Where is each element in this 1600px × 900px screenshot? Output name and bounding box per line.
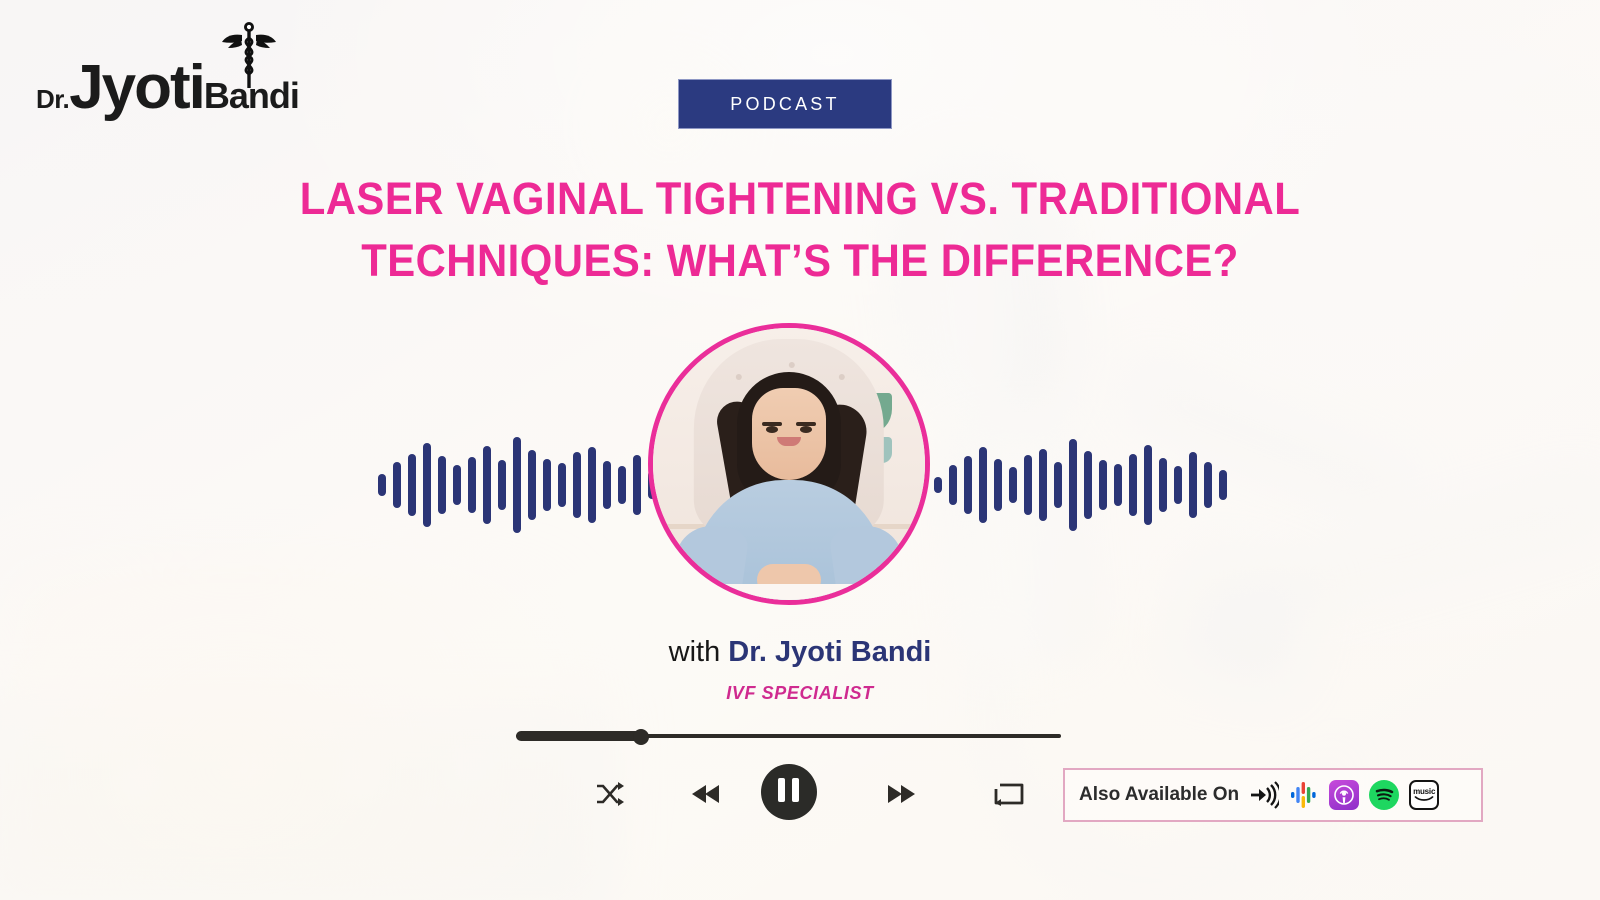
repeat-button[interactable] [987, 765, 1031, 823]
avatar-face [752, 388, 826, 480]
waveform-bar [1159, 458, 1167, 512]
waveform-bar [1054, 462, 1062, 508]
waveform-bar [1069, 439, 1077, 531]
waveform-bar [979, 447, 987, 523]
waveform-bar [453, 465, 461, 505]
waveform-bar [1084, 451, 1092, 519]
waveform-right [934, 430, 1227, 540]
amazon-music-label: music [1413, 788, 1435, 796]
shuffle-icon [595, 781, 625, 807]
progress-knob[interactable] [633, 729, 649, 745]
pause-icon [778, 778, 799, 807]
episode-title-line-2: TECHNIQUES: WHAT’S THE DIFFERENCE? [56, 230, 1544, 292]
waveform-bar [1024, 455, 1032, 515]
waveform-left [378, 430, 671, 540]
apple-podcasts-glyph [1334, 785, 1354, 805]
waveform-bar [408, 454, 416, 516]
podcast-badge-label: PODCAST [730, 94, 839, 115]
waveform-bar [588, 447, 596, 523]
avatar [648, 323, 930, 605]
also-available-on: Also Available On [1063, 768, 1483, 822]
waveform-bar [1219, 470, 1227, 500]
waveform-bar [513, 437, 521, 533]
amazon-smile-icon [1414, 796, 1434, 802]
rewind-icon [691, 783, 721, 805]
spotify-glyph [1373, 784, 1395, 806]
host-credit: with Dr. Jyoti Bandi [0, 636, 1600, 669]
waveform-bar [1174, 466, 1182, 504]
progress-bar[interactable] [516, 729, 1061, 743]
avatar-desk [653, 584, 925, 600]
waveform-bar [378, 474, 386, 496]
pause-button[interactable] [761, 764, 817, 820]
amazon-music-icon[interactable]: music [1409, 780, 1439, 810]
host-role: IVF SPECIALIST [0, 683, 1600, 704]
waveform-bar [498, 460, 506, 510]
waveform-bar [468, 457, 476, 513]
also-available-label: Also Available On [1079, 784, 1239, 806]
player-controls [516, 765, 1061, 825]
waveform-bar [603, 461, 611, 509]
waveform-bar [1144, 445, 1152, 525]
waveform-bar [1189, 452, 1197, 518]
repeat-icon [993, 781, 1025, 807]
episode-title: LASER VAGINAL TIGHTENING VS. TRADITIONAL… [56, 168, 1544, 292]
waveform-bar [543, 459, 551, 511]
shuffle-button[interactable] [588, 765, 632, 823]
waveform-bar [1204, 462, 1212, 508]
waveform-bar [964, 456, 972, 514]
waveform-bar [633, 455, 641, 515]
brand-logo-prefix: Dr. [36, 84, 69, 114]
rewind-button[interactable] [684, 765, 728, 823]
waveform-bar [618, 466, 626, 504]
spotify-icon[interactable] [1369, 780, 1399, 810]
brand-logo: Dr.JyotiBandi [30, 18, 330, 128]
fast-forward-button[interactable] [879, 765, 923, 823]
google-podcasts-icon[interactable] [1289, 780, 1319, 810]
waveform-bar [483, 446, 491, 524]
waveform-bar [1099, 460, 1107, 510]
host-name: Dr. Jyoti Bandi [728, 636, 931, 668]
apple-podcasts-icon[interactable] [1329, 780, 1359, 810]
waveform-bar [1039, 449, 1047, 521]
podcast-badge: PODCAST [678, 79, 892, 129]
waveform-bar [1009, 467, 1017, 503]
waveform-bar [423, 443, 431, 527]
waveform-bar [1129, 454, 1137, 516]
waveform-bar [438, 456, 446, 514]
waveform-bar [934, 477, 942, 493]
waveform-bar [994, 459, 1002, 511]
host-credit-prefix: with [669, 636, 729, 668]
waveform-bar [393, 462, 401, 508]
fast-forward-icon [886, 783, 916, 805]
progress-fill [516, 731, 641, 741]
waveform-bar [949, 465, 957, 505]
caduceus-icon [220, 18, 278, 90]
waveform-bar [528, 450, 536, 520]
waveform-bar [1114, 464, 1122, 506]
brand-logo-name: Jyoti [69, 53, 204, 122]
episode-title-line-1: LASER VAGINAL TIGHTENING VS. TRADITIONAL [300, 173, 1301, 224]
waveform-bar [558, 463, 566, 507]
podcast-cover: Dr.JyotiBandi PODCAST LASER VAGINAL TIGH… [0, 0, 1600, 900]
broadcast-arrow-icon [1249, 780, 1279, 810]
waveform-bar [573, 452, 581, 518]
